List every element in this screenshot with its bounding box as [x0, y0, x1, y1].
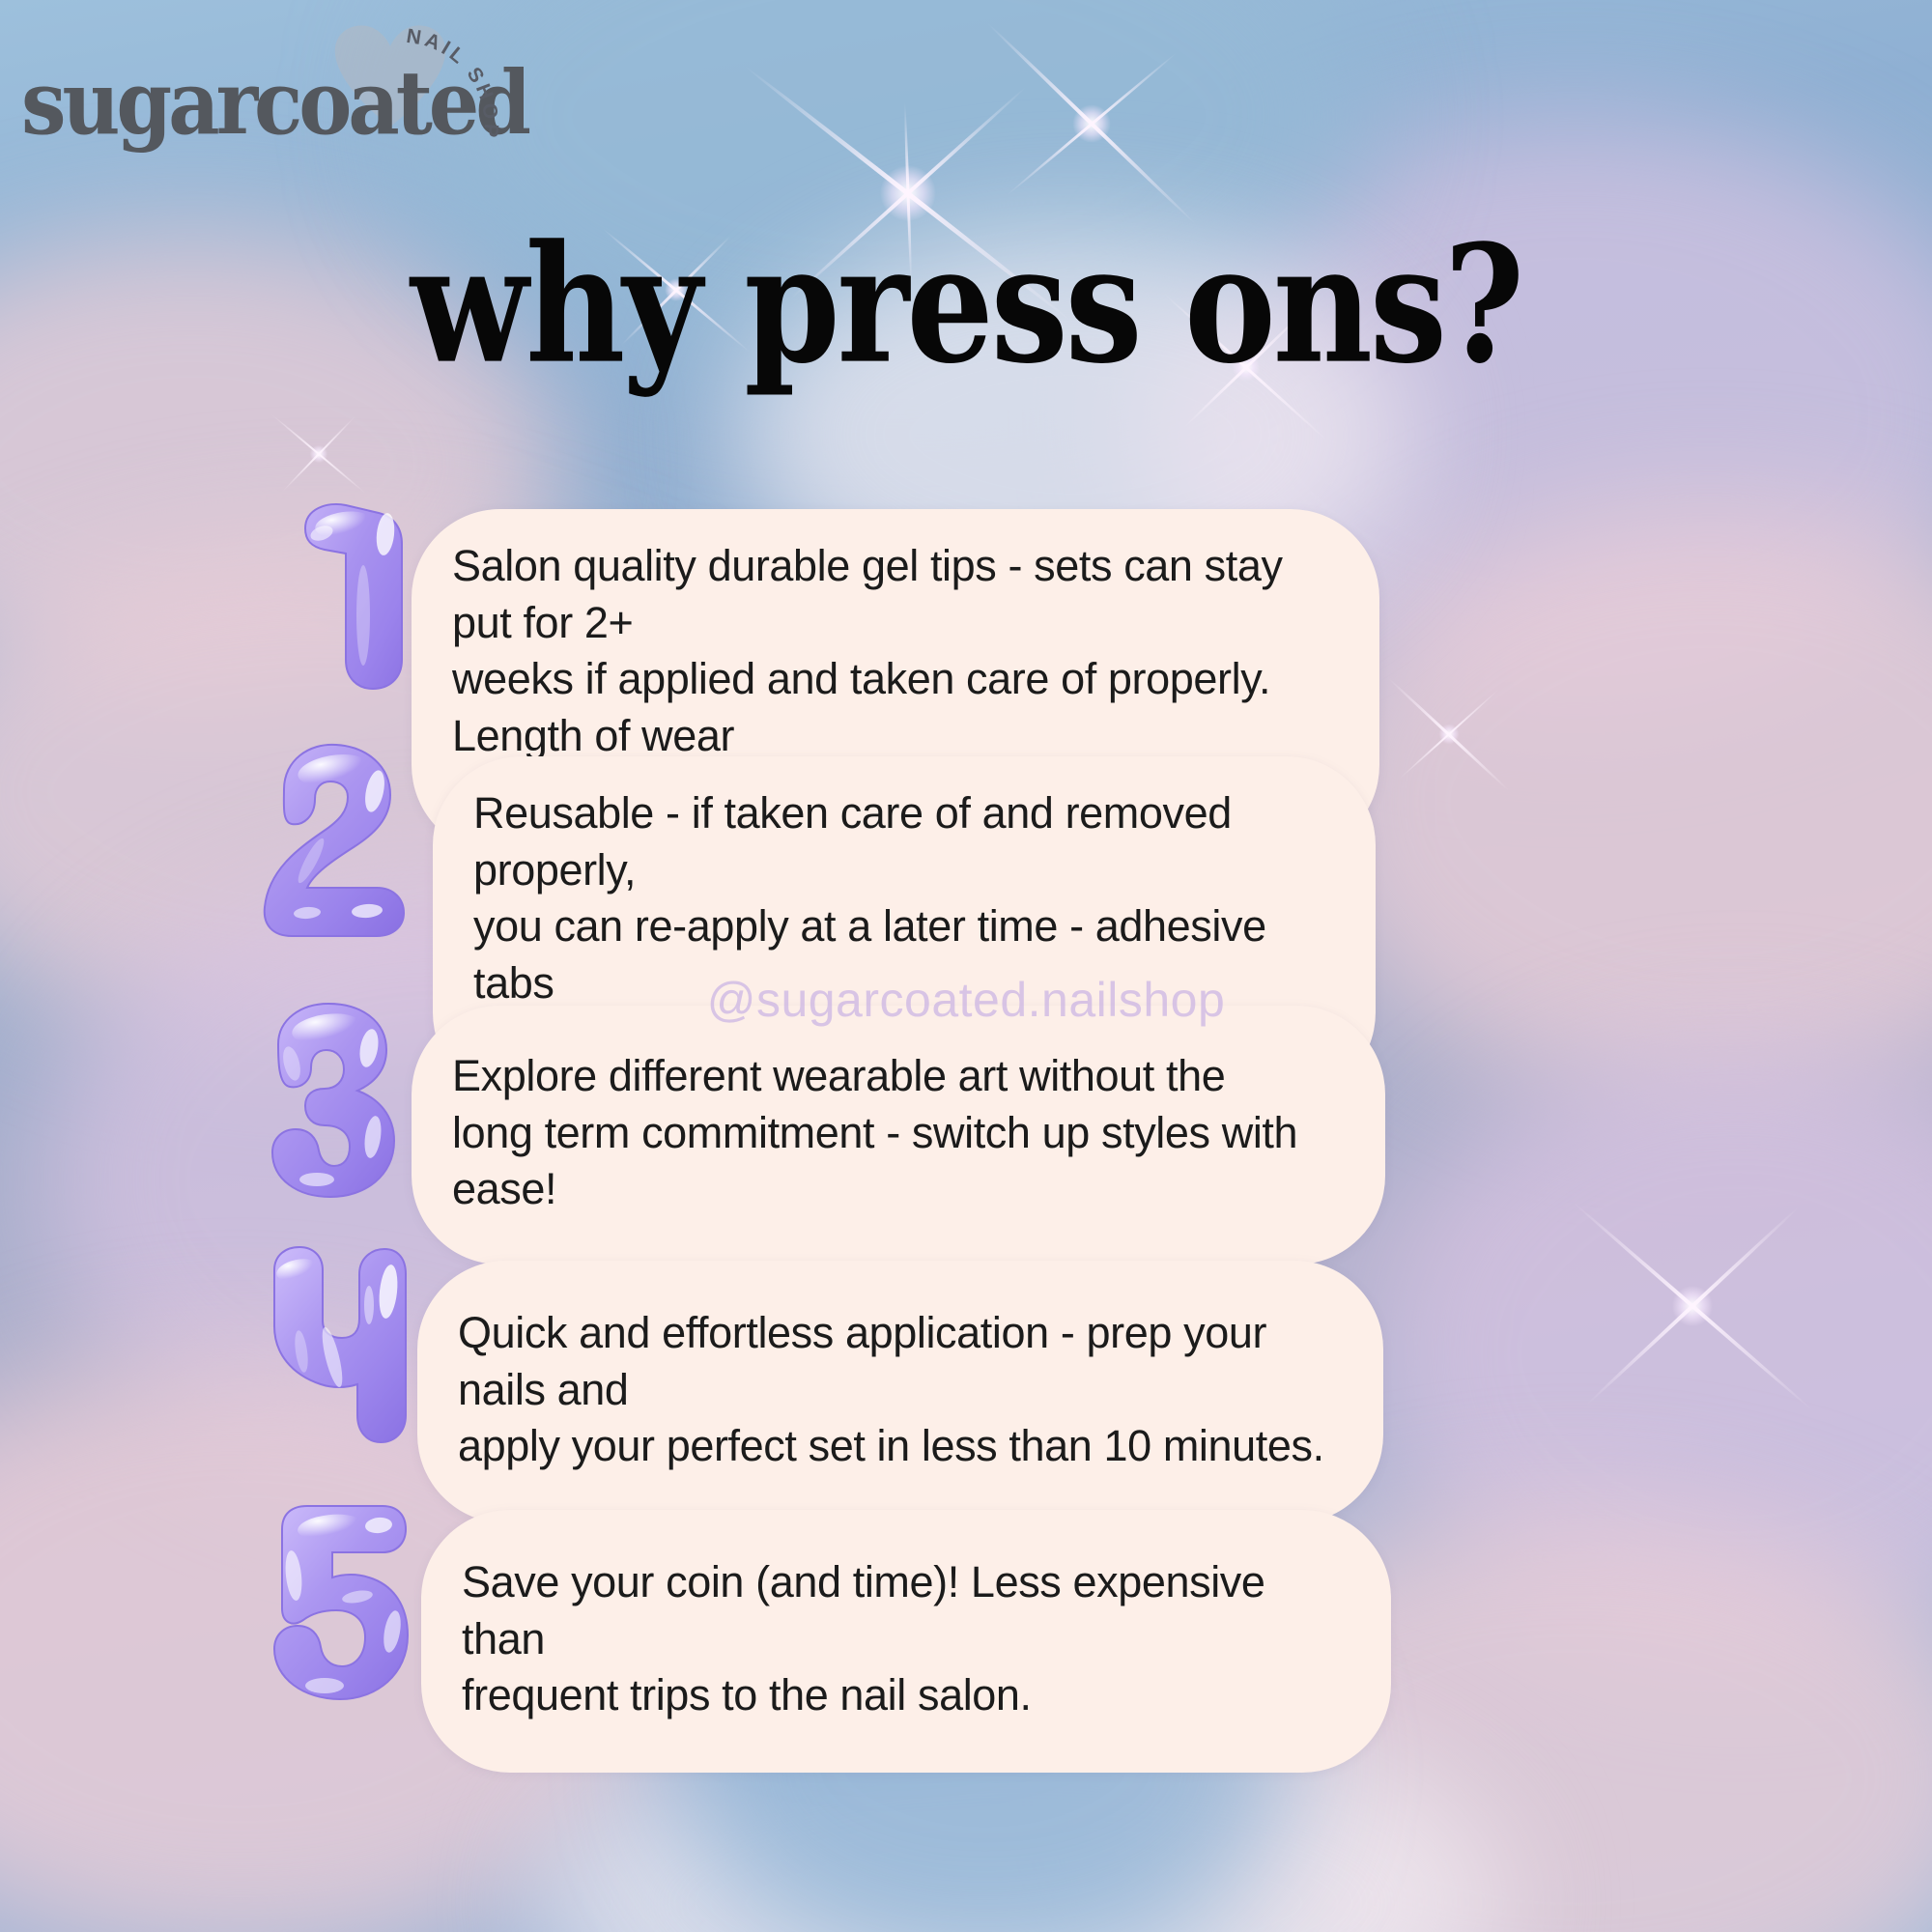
balloon-numeral-5-icon [253, 1496, 422, 1704]
benefit-text: Quick and effortless application - prep … [458, 1305, 1337, 1475]
list-item: Reusable - if taken care of and removed … [0, 756, 1932, 1006]
benefit-pill: Save your coin (and time)! Less expensiv… [421, 1510, 1391, 1773]
benefit-pill: Explore different wearable art without t… [412, 1006, 1385, 1264]
balloon-numeral-3-icon [249, 996, 418, 1204]
balloon-numeral-2-icon [253, 735, 422, 943]
balloon-numeral-4-icon [253, 1241, 422, 1449]
brand-tagline-text: NAIL SHOP [405, 25, 502, 142]
page-title: why press ons? [0, 224, 1932, 386]
brand-logo: sugarcoated NAIL SHOP [14, 21, 516, 147]
list-item: Save your coin (and time)! Less expensiv… [0, 1510, 1932, 1751]
list-item: Salon quality durable gel tips - sets ca… [0, 509, 1932, 756]
list-item: Quick and effortless application - prep … [0, 1261, 1932, 1510]
benefits-list: Salon quality durable gel tips - sets ca… [0, 509, 1932, 1751]
benefit-text: Save your coin (and time)! Less expensiv… [462, 1554, 1345, 1724]
list-item: Explore different wearable art without t… [0, 1006, 1932, 1261]
benefit-text: Explore different wearable art without t… [452, 1048, 1339, 1218]
benefit-pill: Quick and effortless application - prep … [417, 1261, 1383, 1523]
brand-tagline: NAIL SHOP [395, 17, 579, 162]
